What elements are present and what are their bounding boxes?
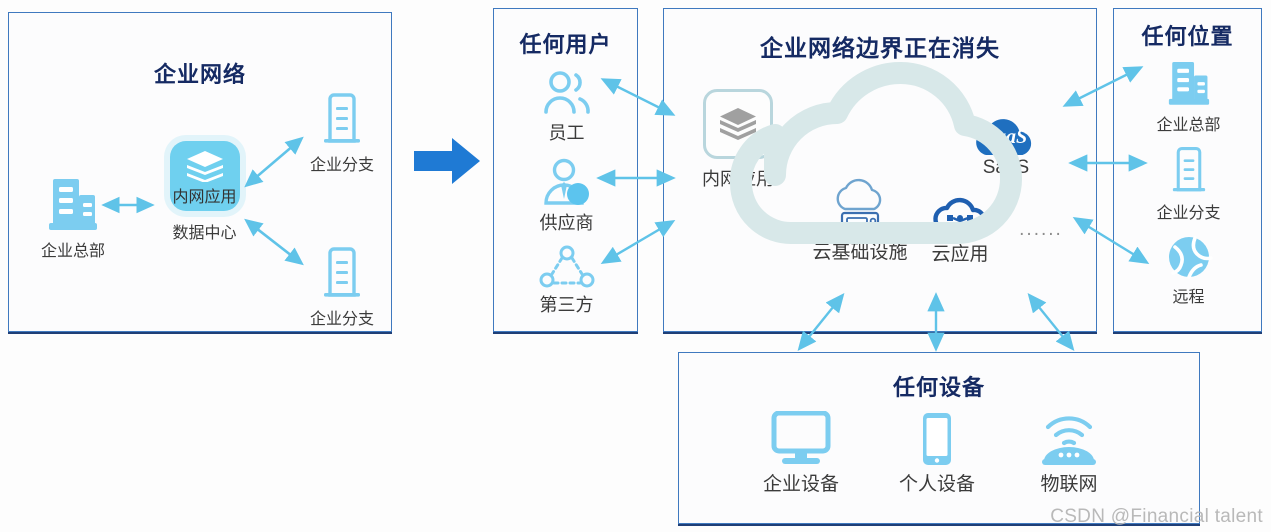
- network-nodes-icon: [539, 245, 595, 289]
- panel-vanishing-perimeter: 企业网络边界正在消失 内网应用 云基础设施: [663, 8, 1097, 332]
- panel-vanishing-perimeter-title: 企业网络边界正在消失: [664, 29, 1096, 63]
- layers-icon: [718, 107, 758, 141]
- node-cloud-application-label: 云应用: [912, 239, 1008, 266]
- smartphone-icon: [917, 411, 957, 467]
- watermark: CSDN @Financial talent: [1050, 506, 1263, 528]
- node-saas-label: SaaS: [960, 157, 1052, 179]
- node-saas[interactable]: SaaS SaaS: [960, 107, 1052, 179]
- node-location-remote[interactable]: 远程: [1114, 233, 1263, 307]
- node-more-ellipsis: ......: [1006, 219, 1076, 241]
- panel-any-user-title: 任何用户: [494, 27, 637, 59]
- node-cloud-infrastructure-label: 云基础设施: [800, 237, 920, 264]
- node-personal-device-label: 个人设备: [877, 469, 997, 496]
- node-enterprise-device-label: 企业设备: [741, 469, 861, 496]
- node-intranet-app-label: 内网应用: [686, 165, 790, 191]
- node-staff-label: 员工: [494, 119, 639, 145]
- panel-any-location-title: 任何位置: [1114, 19, 1261, 51]
- node-intranet-app[interactable]: 内网应用: [686, 89, 790, 191]
- branch-building-icon: [1167, 145, 1211, 197]
- node-vendor-label: 供应商: [494, 209, 639, 235]
- monitor-icon: [768, 411, 834, 467]
- node-cloud-infrastructure[interactable]: 云基础设施: [800, 177, 920, 264]
- node-enterprise-device[interactable]: 企业设备: [741, 411, 861, 496]
- panel-enterprise-network: 企业网络 企业总部 内网应用: [8, 12, 392, 332]
- node-third-party-label: 第三方: [494, 291, 639, 317]
- router-wifi-icon: [1036, 411, 1102, 467]
- flow-block-arrow-icon: [414, 138, 480, 184]
- panel-any-user: 任何用户 员工 供应商: [493, 8, 638, 332]
- panel-any-device-title: 任何设备: [679, 370, 1199, 402]
- node-iot-device[interactable]: 物联网: [1009, 411, 1129, 496]
- cloud-server-icon: [829, 177, 891, 235]
- panel-any-device: 任何设备 企业设备 个人设备: [678, 352, 1200, 524]
- panel-any-location: 任何位置 企业总部 企业分支: [1113, 8, 1262, 332]
- node-cloud-application[interactable]: 云应用: [912, 191, 1008, 266]
- node-location-branch[interactable]: 企业分支: [1114, 145, 1263, 223]
- saas-cloud-icon: SaaS: [969, 107, 1043, 159]
- node-personal-device[interactable]: 个人设备: [877, 411, 997, 496]
- intranet-app-frame[interactable]: [703, 89, 773, 159]
- node-iot-device-label: 物联网: [1009, 469, 1129, 496]
- user-tie-icon: [538, 157, 596, 207]
- node-staff[interactable]: 员工: [494, 69, 639, 145]
- node-location-hq-label: 企业总部: [1114, 111, 1263, 135]
- globe-icon: [1165, 233, 1213, 281]
- ellipsis-icon: ......: [1006, 219, 1076, 241]
- cloud-app-icon: [931, 191, 989, 237]
- diagram-canvas: 企业网络 企业总部 内网应用: [0, 0, 1271, 532]
- svg-text:SaaS: SaaS: [985, 126, 1027, 148]
- node-location-branch-label: 企业分支: [1114, 199, 1263, 223]
- node-location-hq[interactable]: 企业总部: [1114, 57, 1263, 135]
- building-icon: [1164, 57, 1214, 109]
- panel-enterprise-connectors: [9, 13, 393, 333]
- node-vendor[interactable]: 供应商: [494, 157, 639, 235]
- node-location-remote-label: 远程: [1114, 283, 1263, 307]
- node-third-party[interactable]: 第三方: [494, 245, 639, 317]
- users-group-icon: [538, 69, 596, 117]
